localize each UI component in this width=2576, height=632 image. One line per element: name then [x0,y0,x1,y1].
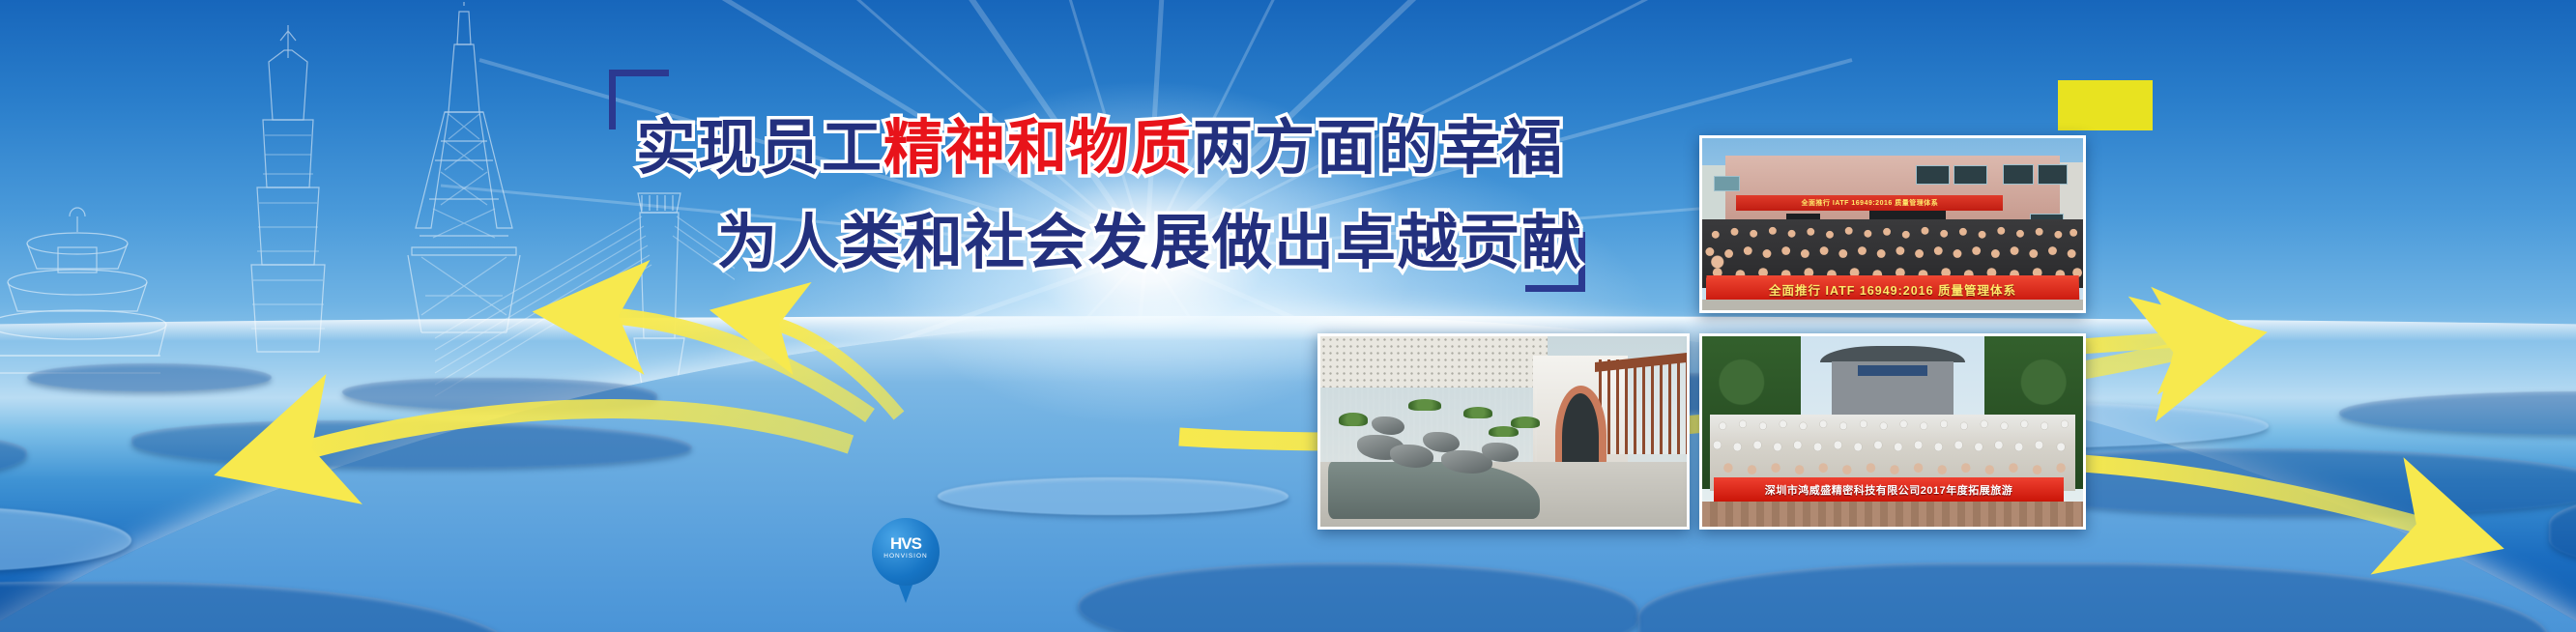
iatf-wall-banner-text: 全面推行 IATF 16949:2016 质量管理体系 [1736,195,2003,211]
corporate-hero-banner: 实现员工精神和物质两方面的幸福 为人类和社会发展做出卓越贡献 全面推行 IATF… [0,0,2576,632]
logo-wordmark-text: HONVISION [872,554,940,560]
logo-mark-text: HVS [872,535,940,552]
yellow-accent-tag [2058,80,2153,130]
courtyard-garden-photo [1317,333,1690,530]
headline-line1-part2: 精神和物质 [883,99,1193,186]
park-gate [1820,346,1965,422]
headline-line1-part3: 两方面的幸福 [1193,99,1564,186]
outing-banner-text: 深圳市鸿威盛精密科技有限公司2017年度拓展旅游 [1714,477,2064,503]
headline-line-2: 为人类和社会发展做出卓越贡献 [717,193,1583,280]
headline-line1-part1: 实现员工 [636,99,883,186]
honvision-location-pin-logo: HVS HONVISION [872,518,940,605]
company-outing-group-photo: 深圳市鸿威盛精密科技有限公司2017年度拓展旅游 [1699,333,2086,530]
iatf-certification-group-photo: 全面推行 IATF 16949:2016 质量管理体系 [1699,135,2086,313]
headline-block: 实现员工精神和物质两方面的幸福 为人类和社会发展做出卓越贡献 [609,70,1585,292]
headline-line2-part1: 为人类和社会发展做出卓越贡献 [717,193,1583,280]
headline-line-1: 实现员工精神和物质两方面的幸福 [636,99,1564,186]
